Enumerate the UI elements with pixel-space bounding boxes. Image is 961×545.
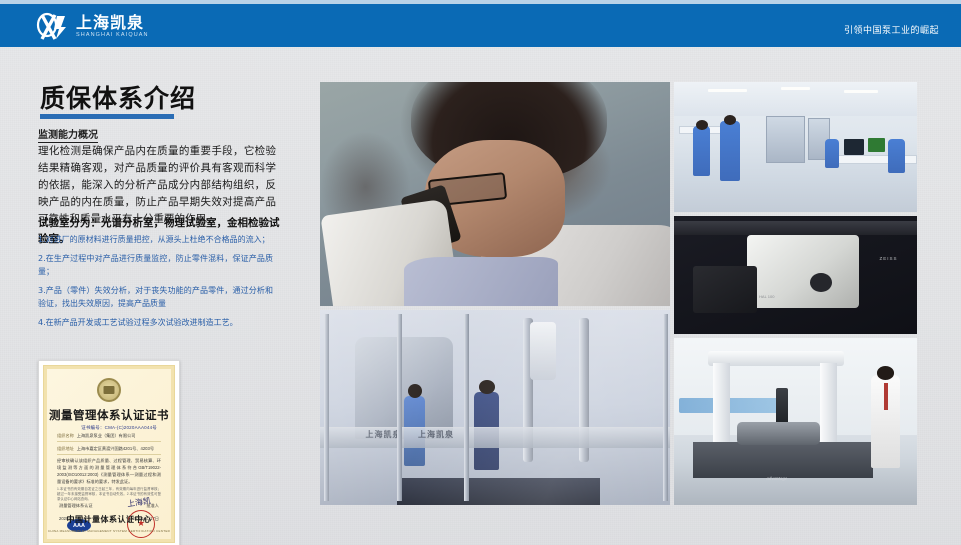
certificate-code-label: 证书编号：: [81, 425, 105, 430]
certificate-code-value: CMA-(C)2020AAA044号: [105, 425, 157, 430]
certificate-issuer: 中国计量体系认证中心: [47, 514, 171, 525]
field-label: 组织名称: [57, 433, 74, 439]
certificate-statement: 经审核确认该组织产品质量、过程管理、贸易核算、环境监测等方面的测量管理体系符合G…: [57, 457, 161, 485]
cmm-measuring-photo[interactable]: advantage: [674, 338, 917, 505]
photo-cmm-probe: [776, 388, 788, 425]
photo-ceiling-light: [708, 89, 747, 92]
capability-points-list: 1.对进厂的原材料进行质量把控，从源头上杜绝不合格品的流入； 2.在生产过程中对…: [38, 233, 273, 335]
photo-equipment-knob: [810, 273, 832, 292]
photo-wall-banner: [679, 398, 786, 413]
photo-cmm-column-right: [820, 363, 837, 443]
certificate-issuer-en: CHINA MEASUREMENT MANAGEMENT SYSTEM CERT…: [47, 529, 171, 533]
photo-measured-part: [737, 422, 820, 445]
logo-text-en: SHANGHAI KAIQUAN: [76, 33, 149, 39]
sign-left: 测量管理体系认证: [59, 503, 93, 509]
slide-root: 上海凯泉 SHANGHAI KAIQUAN 引领中国泵工业的崛起 质保体系介绍 …: [0, 0, 961, 545]
photo-machine-brand: advantage: [766, 477, 787, 482]
laboratory-room-photo[interactable]: [674, 82, 917, 212]
header-slogan: 引领中国泵工业的崛起: [844, 23, 939, 36]
photo-technician-tie: [884, 383, 888, 410]
title-underline-rule: [40, 114, 174, 119]
photo-cmm-column-left: [713, 363, 730, 443]
photo-equipment-model: HAL 100: [759, 294, 774, 299]
certificate-title: 测量管理体系认证证书: [47, 407, 171, 423]
certificate-field-row: 组织地址 上海市嘉定区黄渡兴国路4201号、4203号: [57, 446, 161, 455]
photo-technician-head: [877, 366, 894, 379]
list-item: 3.产品（零件）失效分析，对于丧失功能的产品零件，通过分析和验证，找出失效原因，…: [38, 284, 273, 310]
photo-worker-head: [696, 120, 708, 130]
microscope-equipment-photo[interactable]: HAL 100 ZEISS: [674, 216, 917, 334]
left-content-column: 质保体系介绍 监测能力概况 理化检测是确保产品内在质量的重要手段，它检验结果精确…: [0, 47, 310, 545]
photo-lab-worker: [693, 126, 710, 175]
company-logo[interactable]: 上海凯泉 SHANGHAI KAIQUAN: [35, 12, 149, 42]
certificate-fields: 组织名称 上海凯泉泵业（集团）有限公司 组织地址 上海市嘉定区黄渡兴国路4201…: [57, 433, 161, 459]
material-testing-lab-photo[interactable]: 上海凯泉 上海凯泉: [320, 310, 670, 505]
field-label: 组织地址: [57, 446, 74, 452]
photo-monitor: [844, 139, 863, 155]
certificate-body: 测量管理体系认证证书 证书编号：CMA-(C)2020AAA044号 组织名称 …: [44, 366, 174, 542]
photo-lab-worker: [825, 139, 840, 168]
logo-text-cn: 上海凯泉: [76, 15, 149, 31]
microscope-operator-photo[interactable]: [320, 82, 670, 306]
photo-grid: HAL 100 ZEISS 上海凯泉 上海凯泉: [320, 82, 917, 505]
photo-ceiling-light: [844, 90, 878, 93]
photo-glass-reflection: [320, 310, 670, 505]
photo-granite-table: [693, 442, 873, 479]
certificate-image[interactable]: 测量管理体系认证证书 证书编号：CMA-(C)2020AAA044号 组织名称 …: [38, 360, 180, 545]
certificate-emblem-icon: [97, 378, 121, 402]
field-value: 上海市嘉定区黄渡兴国路4201号、4203号: [77, 446, 154, 452]
photo-lab-worker: [720, 121, 739, 181]
photo-equipment-lens: [693, 266, 756, 313]
list-item: 1.对进厂的原材料进行质量把控，从源头上杜绝不合格品的流入；: [38, 233, 273, 246]
photo-ceiling-light: [781, 87, 810, 90]
photo-shirt: [404, 257, 558, 306]
kaiquan-logo-icon: [35, 12, 69, 42]
photo-worker-head: [724, 115, 736, 125]
page-title: 质保体系介绍: [40, 79, 196, 115]
certificate-field-row: 组织名称 上海凯泉泵业（集团）有限公司: [57, 433, 161, 442]
photo-cabinet: [766, 116, 805, 163]
list-item: 2.在生产过程中对产品进行质量监控，防止零件混料，保证产品质量；: [38, 252, 273, 278]
certificate-code: 证书编号：CMA-(C)2020AAA044号: [81, 425, 157, 431]
page-header: 上海凯泉 SHANGHAI KAIQUAN 引领中国泵工业的崛起: [0, 4, 961, 47]
section-subheading: 监测能力概况: [38, 126, 98, 143]
photo-lab-worker: [888, 139, 905, 173]
photo-equipment-arm: [674, 221, 917, 235]
field-value: 上海凯泉泵业（集团）有限公司: [77, 433, 136, 439]
photo-equipment-brand: ZEISS: [880, 256, 898, 261]
photo-monitor: [868, 138, 885, 152]
list-item: 4.在新产品开发或工艺试验过程多次试验改进制造工艺。: [38, 316, 273, 329]
